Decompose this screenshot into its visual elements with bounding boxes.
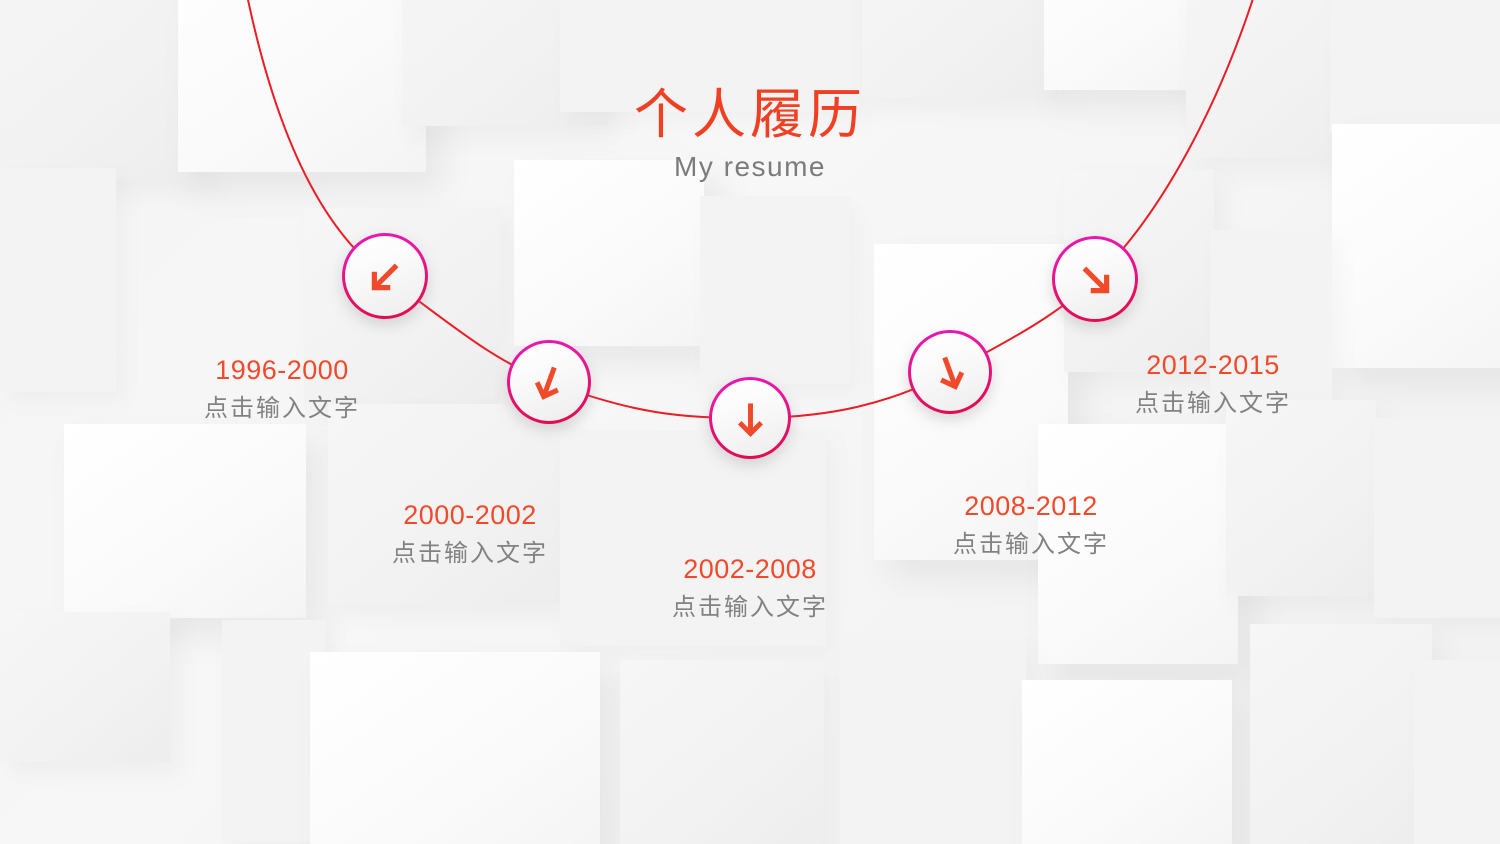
timeline-label-2002-2008: 2002-2008点击输入文字 (672, 551, 828, 625)
timeline-label-2008-2012: 2008-2012点击输入文字 (953, 488, 1109, 562)
timeline-label-2000-2002: 2000-2002点击输入文字 (392, 497, 548, 571)
background-square (1022, 680, 1232, 844)
timeline-year[interactable]: 2012-2015 (1135, 347, 1291, 383)
background-square (514, 160, 704, 346)
background-square (0, 168, 116, 392)
page-subtitle: My resume (0, 152, 1500, 183)
timeline-year[interactable]: 2002-2008 (672, 551, 828, 587)
background-square (862, 0, 1058, 98)
background-square (1044, 0, 1206, 90)
background-square (0, 612, 170, 762)
page-title: 个人履历 (0, 86, 1500, 144)
background-square (620, 660, 824, 844)
timeline-description[interactable]: 点击输入文字 (204, 392, 360, 426)
background-square (1226, 400, 1376, 596)
background-square (1250, 624, 1432, 844)
resume-timeline-slide: 个人履历 My resume 1996-2000点击输入文字2000-2002点… (0, 0, 1500, 844)
timeline-node-2012-2015[interactable] (1052, 236, 1138, 322)
background-square (1374, 418, 1500, 618)
timeline-description[interactable]: 点击输入文字 (672, 591, 828, 625)
timeline-node-2002-2008[interactable] (709, 377, 791, 459)
timeline-node-1996-2000[interactable] (342, 233, 428, 319)
timeline-node-2000-2002[interactable] (507, 340, 591, 424)
timeline-year[interactable]: 2000-2002 (392, 497, 548, 533)
timeline-description[interactable]: 点击输入文字 (392, 537, 548, 571)
timeline-label-2012-2015: 2012-2015点击输入文字 (1135, 347, 1291, 421)
timeline-year[interactable]: 2008-2012 (953, 488, 1109, 524)
timeline-year[interactable]: 1996-2000 (204, 352, 360, 388)
background-square (310, 652, 600, 844)
background-square (700, 196, 850, 384)
page-title-block: 个人履历 My resume (0, 86, 1500, 183)
background-square (64, 424, 306, 618)
background-square (1414, 660, 1500, 844)
arrow-down-icon (729, 397, 772, 440)
timeline-description[interactable]: 点击输入文字 (953, 528, 1109, 562)
timeline-label-1996-2000: 1996-2000点击输入文字 (204, 352, 360, 426)
timeline-node-2008-2012[interactable] (908, 330, 992, 414)
timeline-description[interactable]: 点击输入文字 (1135, 387, 1291, 421)
background-square (840, 640, 1026, 844)
